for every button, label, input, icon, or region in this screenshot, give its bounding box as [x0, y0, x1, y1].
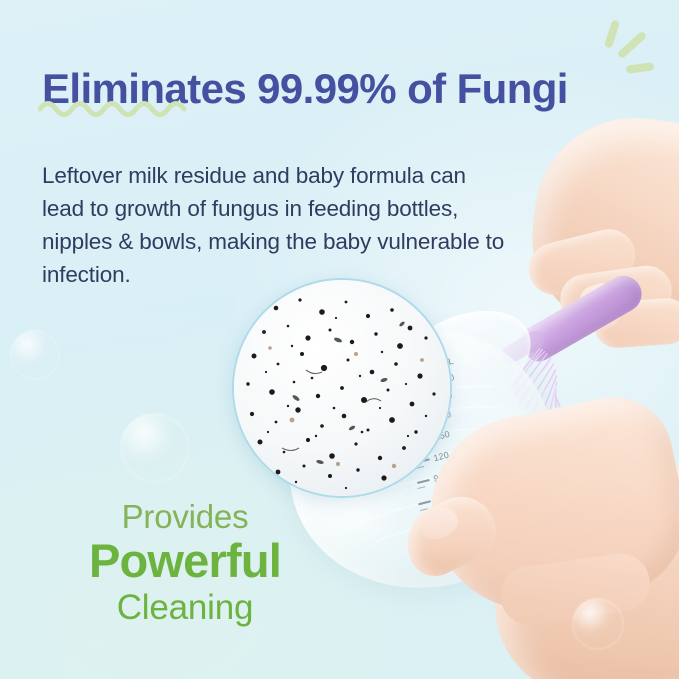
claim-line-powerful: Powerful — [60, 537, 310, 584]
fungus-specks — [234, 280, 450, 496]
claim-block: Provides Powerful Cleaning — [60, 500, 310, 625]
claim-line-cleaning: Cleaning — [60, 590, 310, 625]
fungi-claim-poster: mL 240 210 180 150 120 90 60 30 — [0, 0, 679, 679]
bubble-bottom-right — [572, 598, 624, 650]
sparkle-dash-1 — [604, 19, 620, 48]
bubble-mid-left — [120, 413, 190, 483]
wavy-underline-icon — [38, 96, 188, 118]
sparkle-dash-2 — [617, 31, 648, 60]
body-paragraph: Leftover milk residue and baby formula c… — [42, 159, 512, 291]
bubble-top-left — [10, 330, 60, 380]
fungus-magnification-inset — [232, 278, 452, 498]
claim-line-provides: Provides — [60, 500, 310, 533]
sparkle-dash-3 — [626, 62, 655, 74]
